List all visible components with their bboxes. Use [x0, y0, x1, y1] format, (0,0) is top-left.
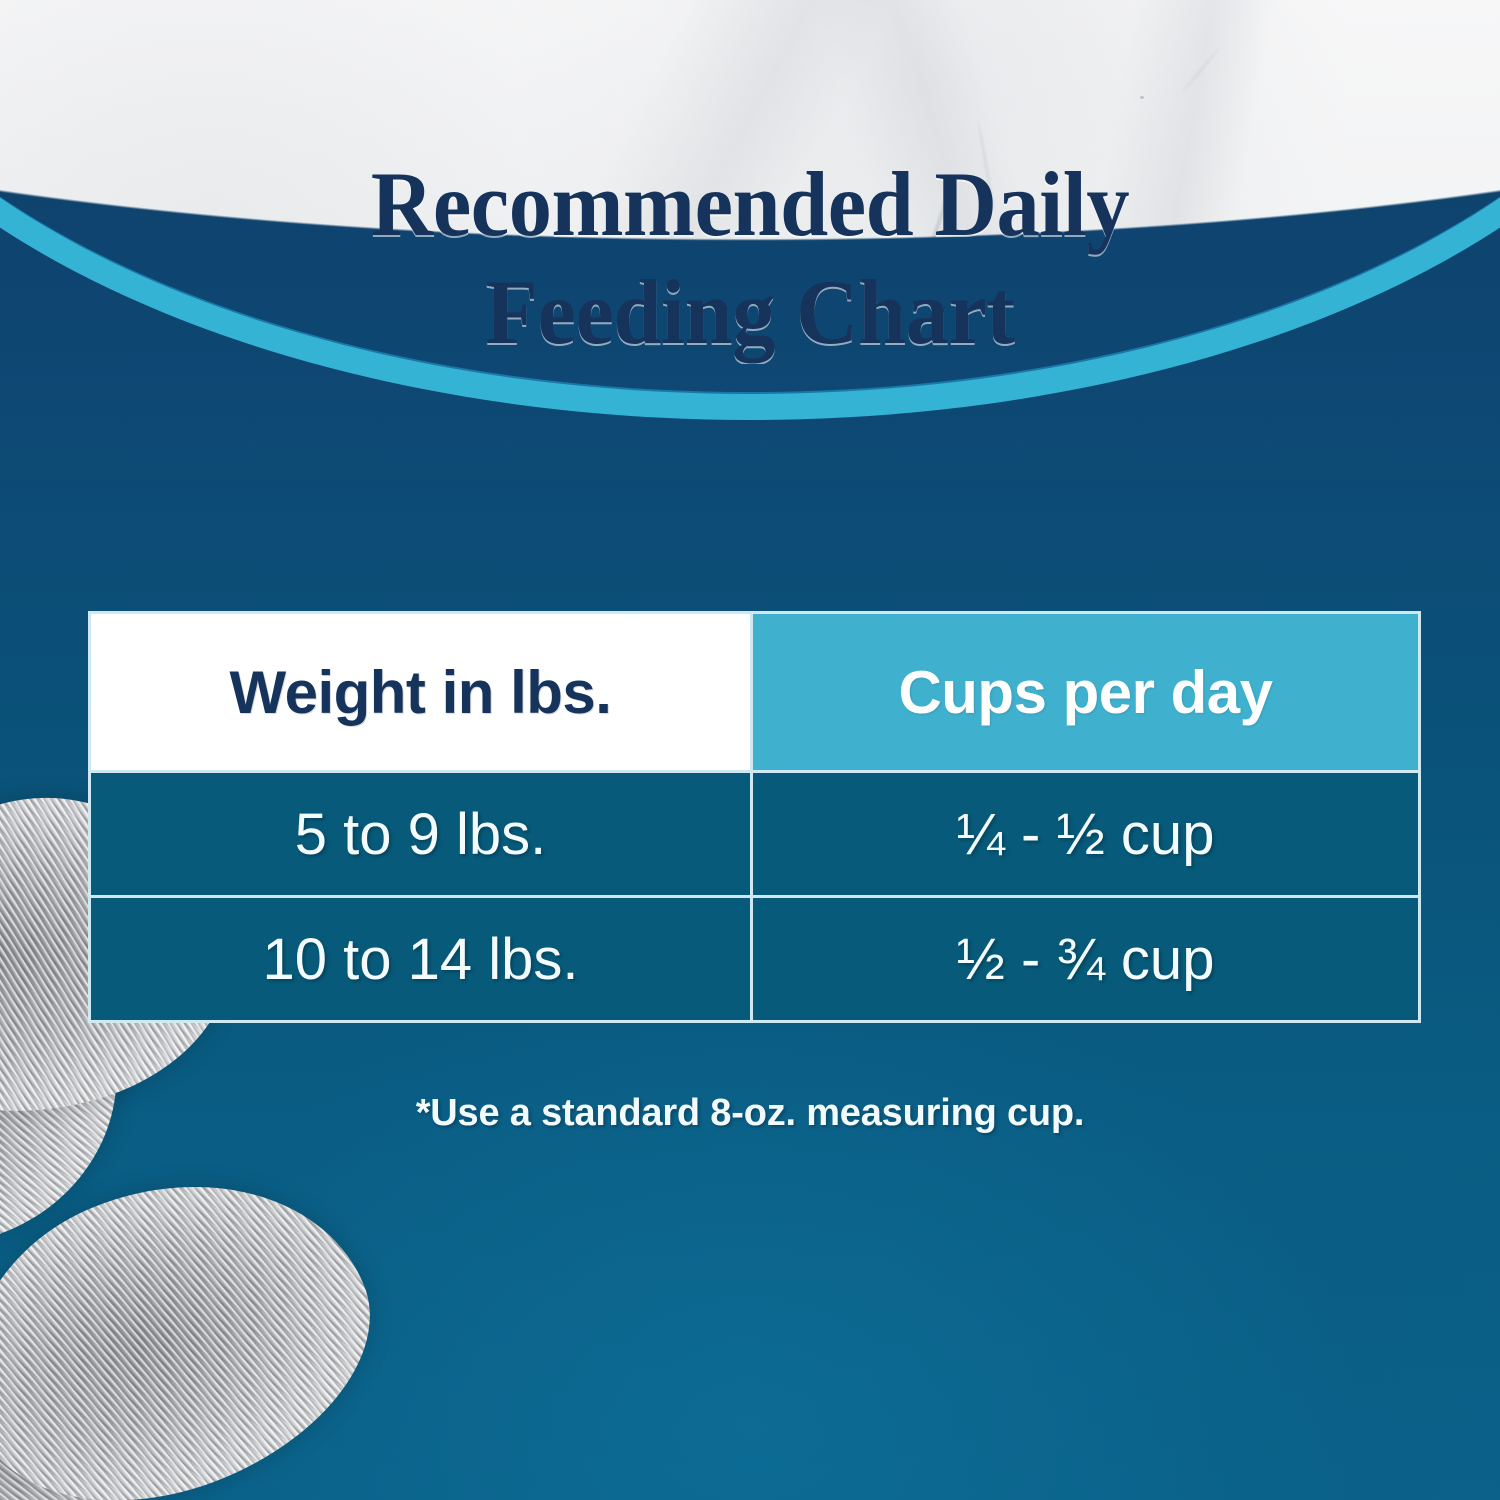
cell-weight-range: 10 to 14 lbs.	[90, 897, 752, 1022]
header-banner: Recommended Daily Feeding Chart	[0, 0, 1500, 430]
page-title: Recommended Daily Feeding Chart	[45, 150, 1455, 367]
marble-speck-icon	[1140, 96, 1144, 99]
table-header-row: Weight in lbs. Cups per day	[90, 613, 1420, 772]
cell-cups-amount: ¼ - ½ cup	[752, 772, 1420, 897]
page-title-line-2: Feeding Chart	[45, 258, 1455, 367]
column-header-weight: Weight in lbs.	[90, 613, 752, 772]
cell-weight-range: 5 to 9 lbs.	[90, 772, 752, 897]
page-title-line-1: Recommended Daily	[371, 153, 1129, 255]
feeding-chart-page: Recommended Daily Feeding Chart Weight i…	[0, 0, 1500, 1500]
marble-vein-icon	[1181, 46, 1221, 93]
column-header-cups: Cups per day	[752, 613, 1420, 772]
table-row: 5 to 9 lbs. ¼ - ½ cup	[90, 772, 1420, 897]
feeding-table-body: 5 to 9 lbs. ¼ - ½ cup 10 to 14 lbs. ½ - …	[90, 772, 1420, 1022]
footnote-text: *Use a standard 8-oz. measuring cup.	[0, 1092, 1500, 1135]
cell-cups-amount: ½ - ¾ cup	[752, 897, 1420, 1022]
table-row: 10 to 14 lbs. ½ - ¾ cup	[90, 897, 1420, 1022]
feeding-table-header: Weight in lbs. Cups per day	[90, 613, 1420, 772]
feeding-table: Weight in lbs. Cups per day 5 to 9 lbs. …	[88, 611, 1421, 1023]
